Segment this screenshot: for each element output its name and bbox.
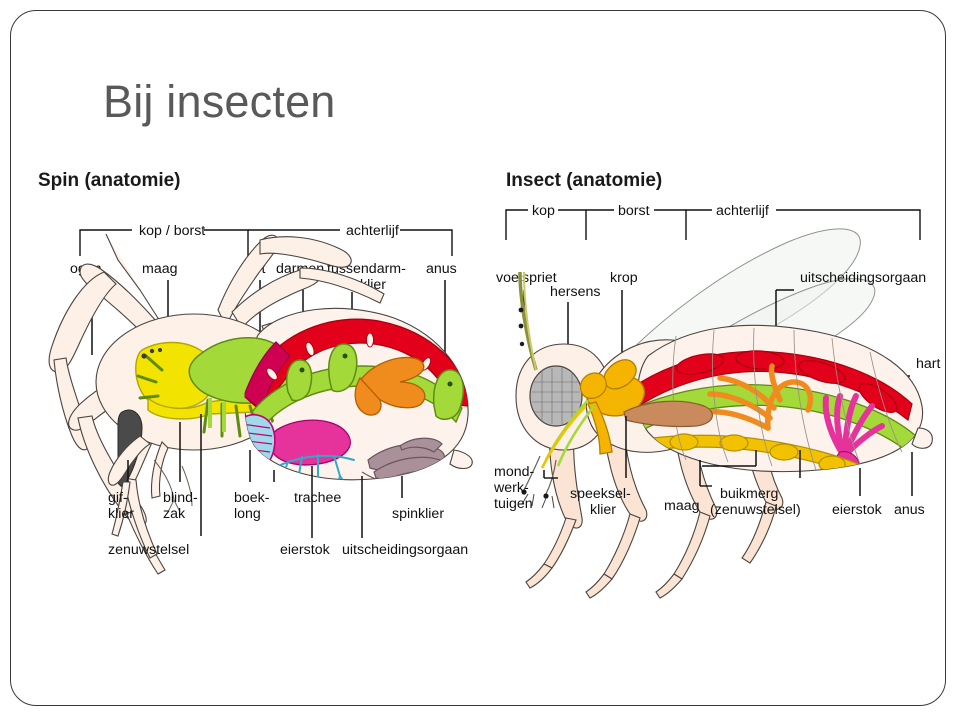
- insect-heading: Insect (anatomie): [506, 170, 662, 191]
- insect-label-eierstok: eierstok: [832, 502, 883, 518]
- spider-label-zenuwstelsel: zenuwstelsel: [108, 542, 189, 558]
- insect-bracket-label-borst: borst: [618, 203, 650, 219]
- spider-label-spinklier: spinklier: [392, 506, 444, 522]
- insect-label-maag: maag: [664, 498, 700, 514]
- page-title: Bij insecten: [103, 78, 803, 125]
- spider-bracket-label-kop-borst: kop / borst: [139, 223, 205, 239]
- insect-label-hersens: hersens: [550, 284, 600, 300]
- spider-label-eierstok: eierstok: [280, 542, 331, 558]
- spider-label-uitscheidingsorgaan: uitscheidingsorgaan: [342, 542, 468, 558]
- insect-label-mondwerktuigen-3: tuigen: [494, 496, 533, 512]
- insect-label-speekselklier: speeksel-: [570, 486, 631, 502]
- insect-bracket-label-kop: kop: [532, 203, 555, 219]
- insect-label-mondwerktuigen: mond-: [494, 464, 534, 480]
- insect-label-hart: hart: [916, 356, 941, 372]
- spider-label-boeklong-2: long: [234, 506, 261, 522]
- insect-label-uitscheidingsorgaan: uitscheidingsorgaan: [800, 270, 926, 286]
- spider-label-gifklier-2: klier: [108, 506, 134, 522]
- insect-bracket-label-achterlijf: achterlijf: [716, 203, 769, 219]
- insect-anatomy-diagram: Insect (anatomie) kop borst achterlijf: [488, 160, 954, 600]
- spider-label-anus: anus: [426, 261, 457, 277]
- insect-antenna: [519, 272, 536, 370]
- insect-label-buikmerg: buikmerg: [720, 486, 778, 502]
- slide: Bij insecten Spin (anatomie) kop / borst…: [0, 0, 960, 720]
- spider-label-maag: maag: [142, 261, 178, 277]
- insect-label-krop: krop: [610, 270, 638, 286]
- spider-ovary: [270, 420, 350, 465]
- spider-bracket-kop-borst: kop / borst: [80, 223, 248, 256]
- spider-label-trachee: trachee: [294, 490, 341, 506]
- insect-label-anus: anus: [894, 502, 925, 518]
- spider-label-gifklier: gif-: [108, 490, 128, 506]
- spider-label-blindzak: blind-: [163, 490, 198, 506]
- spider-label-blindzak-2: zak: [163, 506, 186, 522]
- spider-heading: Spin (anatomie): [38, 170, 181, 191]
- spider-anatomy-diagram: Spin (anatomie) kop / borst achterlijf o…: [22, 160, 492, 580]
- spider-spinnerets: [450, 450, 472, 469]
- insect-label-voelspriet: voelspriet: [496, 270, 557, 286]
- spider-bracket-label-achterlijf: achterlijf: [346, 223, 399, 239]
- insect-label-mondwerktuigen-2: werk-: [493, 480, 529, 496]
- insect-label-buikmerg-2: (zenuwstelsel): [710, 502, 801, 518]
- insect-label-speekselklier-2: klier: [590, 502, 616, 518]
- spider-label-boeklong: boek-: [234, 490, 270, 506]
